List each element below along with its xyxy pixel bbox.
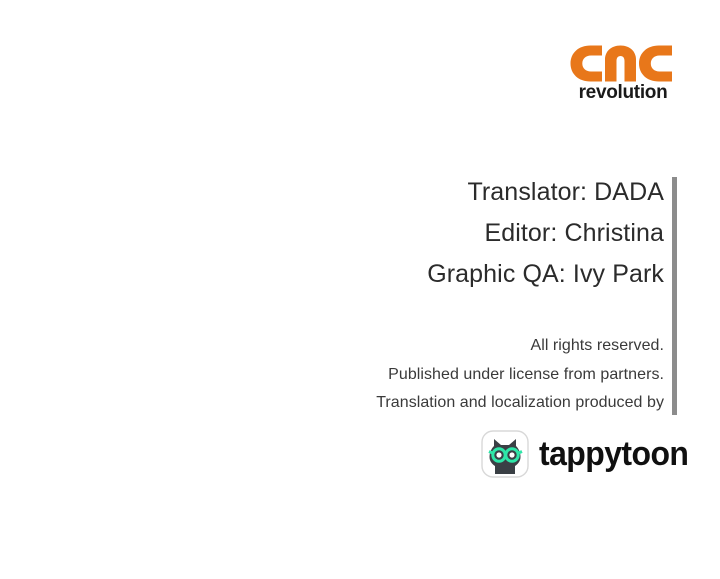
- cnc-revolution-logo: revolution: [568, 42, 678, 102]
- credits-page: revolution Translator: DADA Editor: Chri…: [0, 0, 720, 579]
- cnc-revolution-subtext: revolution: [579, 82, 668, 102]
- legal-line-produced-by: Translation and localization produced by: [330, 389, 664, 418]
- cnc-wordmark-icon: [571, 46, 673, 82]
- credit-line-graphic-qa: Graphic QA: Ivy Park: [330, 254, 664, 295]
- legal-notice: All rights reserved. Published under lic…: [330, 332, 664, 418]
- legal-line-license: Published under license from partners.: [330, 361, 664, 390]
- legal-line-rights: All rights reserved.: [330, 332, 664, 361]
- credit-line-editor: Editor: Christina: [330, 213, 664, 254]
- vertical-accent-rule: [672, 177, 677, 415]
- tappytoon-wordmark: tappytoon: [539, 437, 688, 471]
- tappytoon-logo: tappytoon: [481, 429, 673, 479]
- credit-line-translator: Translator: DADA: [330, 172, 664, 213]
- credits-list: Translator: DADA Editor: Christina Graph…: [330, 172, 664, 295]
- tappytoon-cat-glasses-icon: [481, 430, 529, 478]
